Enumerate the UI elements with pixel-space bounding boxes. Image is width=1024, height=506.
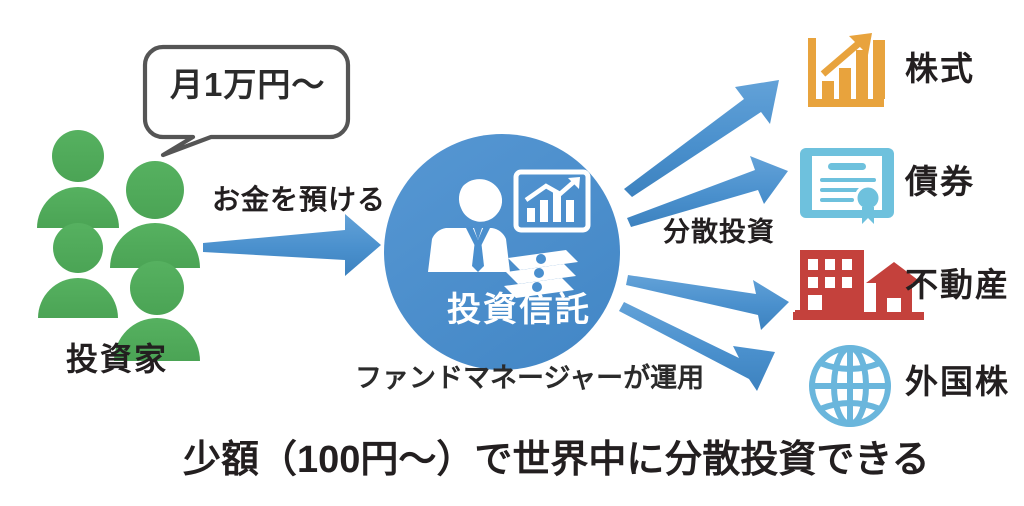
diversify-label: 分散投資 — [663, 219, 775, 246]
person-icon — [37, 130, 119, 228]
speech-bubble-text: 月1万円〜 — [170, 68, 325, 101]
person-icon — [110, 161, 200, 268]
bottom-caption: 少額（100円〜）で世界中に分散投資できる — [183, 441, 930, 479]
asset-label-realestate: 不動産 — [905, 268, 1010, 301]
investment-trust-label: 投資信託 — [447, 293, 591, 327]
diagram-graphics — [0, 0, 1024, 506]
person-icon — [38, 223, 118, 318]
asset-label-foreign-stock: 外国株 — [905, 365, 1010, 398]
globe-icon — [812, 348, 888, 424]
people-group-icon — [37, 130, 200, 361]
arrow-right-icon — [203, 214, 381, 276]
investment-trust-infographic: 月1万円〜 投資家 お金を預ける 投資信託 ファンドマネージャーが運用 分散投資… — [0, 0, 1024, 506]
asset-label-stock: 株式 — [905, 52, 975, 85]
investors-label: 投資家 — [66, 343, 168, 375]
fund-manager-caption: ファンドマネージャーが運用 — [355, 365, 704, 392]
bar-chart-arrow-icon — [808, 33, 885, 107]
certificate-icon — [800, 148, 894, 224]
asset-label-bond: 債券 — [905, 165, 975, 198]
deposit-arrow-label: お金を預ける — [212, 186, 386, 214]
